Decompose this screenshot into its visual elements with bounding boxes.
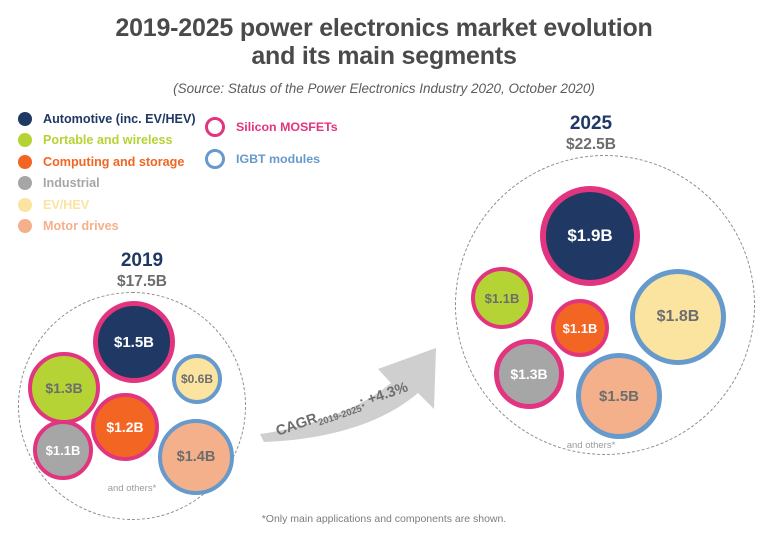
segment-bubble-value: $1.4B (177, 449, 216, 465)
segment-bubble-value: $1.1B (46, 443, 81, 458)
legend-color-dot-icon (18, 112, 32, 126)
legend-components: Silicon MOSFETsIGBT modules (205, 111, 338, 175)
segment-bubble-value: $1.1B (563, 321, 598, 336)
segment-bubble[interactable]: $1.5B (93, 301, 175, 383)
legend-item-application[interactable]: Industrial (18, 173, 196, 195)
segment-bubble-value: $1.8B (657, 308, 700, 326)
segment-bubble[interactable]: $1.3B (28, 352, 100, 424)
segment-bubble[interactable]: $1.1B (551, 299, 609, 357)
legend-item-label: Silicon MOSFETs (236, 120, 338, 134)
legend-item-label: Industrial (43, 176, 100, 190)
footnote: *Only main applications and components a… (0, 513, 768, 525)
segment-bubble[interactable]: $1.2B (91, 393, 159, 461)
legend-item-application[interactable]: Computing and storage (18, 151, 196, 173)
legend-color-dot-icon (18, 155, 32, 169)
segment-bubble-value: $1.5B (599, 388, 639, 405)
segment-bubble[interactable]: $1.9B (540, 186, 640, 286)
segment-bubble[interactable]: $1.1B (33, 420, 93, 480)
segment-bubble-value: $0.6B (181, 372, 213, 386)
legend-color-dot-icon (18, 133, 32, 147)
cluster-year-label: 2025 (501, 113, 681, 135)
legend-color-dot-icon (18, 176, 32, 190)
segment-bubble[interactable]: $1.1B (471, 267, 533, 329)
legend-item-label: Motor drives (43, 219, 119, 233)
cluster-heading: 2025$22.5B (501, 113, 681, 154)
legend-item-component[interactable]: IGBT modules (205, 143, 338, 175)
and-others-label: and others* (531, 440, 651, 451)
legend-item-application[interactable]: Motor drives (18, 216, 196, 238)
cluster-heading: 2019$17.5B (52, 250, 232, 291)
segment-bubble-value: $1.3B (45, 380, 82, 396)
page-title-line2: and its main segments (0, 42, 768, 70)
legend-item-label: Computing and storage (43, 155, 184, 169)
legend-color-dot-icon (18, 219, 32, 233)
segment-bubble-value: $1.9B (567, 226, 612, 246)
legend-item-label: Portable and wireless (43, 133, 173, 147)
and-others-label: and others* (72, 483, 192, 494)
legend-item-application[interactable]: EV/HEV (18, 194, 196, 216)
segment-bubble[interactable]: $0.6B (172, 354, 222, 404)
segment-bubble[interactable]: $1.3B (494, 339, 564, 409)
cluster-total-label: $22.5B (501, 135, 681, 154)
legend-item-application[interactable]: Automotive (inc. EV/HEV) (18, 108, 196, 130)
legend-item-application[interactable]: Portable and wireless (18, 130, 196, 152)
segment-bubble-value: $1.1B (485, 291, 520, 306)
segment-bubble[interactable]: $1.8B (630, 269, 726, 365)
legend-item-label: EV/HEV (43, 198, 89, 212)
cluster-year-label: 2019 (52, 250, 232, 272)
title-block: 2019-2025 power electronics market evolu… (0, 14, 768, 96)
page-title-line1: 2019-2025 power electronics market evolu… (0, 14, 768, 42)
segment-bubble-value: $1.3B (510, 366, 547, 382)
legend-ring-icon (205, 149, 225, 169)
legend-applications: Automotive (inc. EV/HEV)Portable and wir… (18, 108, 196, 237)
cluster-total-label: $17.5B (52, 272, 232, 291)
infographic-root: 2019-2025 power electronics market evolu… (0, 0, 768, 538)
segment-bubble-value: $1.2B (106, 419, 143, 435)
legend-item-label: Automotive (inc. EV/HEV) (43, 112, 196, 126)
source-subtitle: (Source: Status of the Power Electronics… (0, 81, 768, 96)
legend-item-component[interactable]: Silicon MOSFETs (205, 111, 338, 143)
legend-ring-icon (205, 117, 225, 137)
legend-item-label: IGBT modules (236, 152, 320, 166)
segment-bubble-value: $1.5B (114, 334, 154, 351)
legend-color-dot-icon (18, 198, 32, 212)
segment-bubble[interactable]: $1.5B (576, 353, 662, 439)
